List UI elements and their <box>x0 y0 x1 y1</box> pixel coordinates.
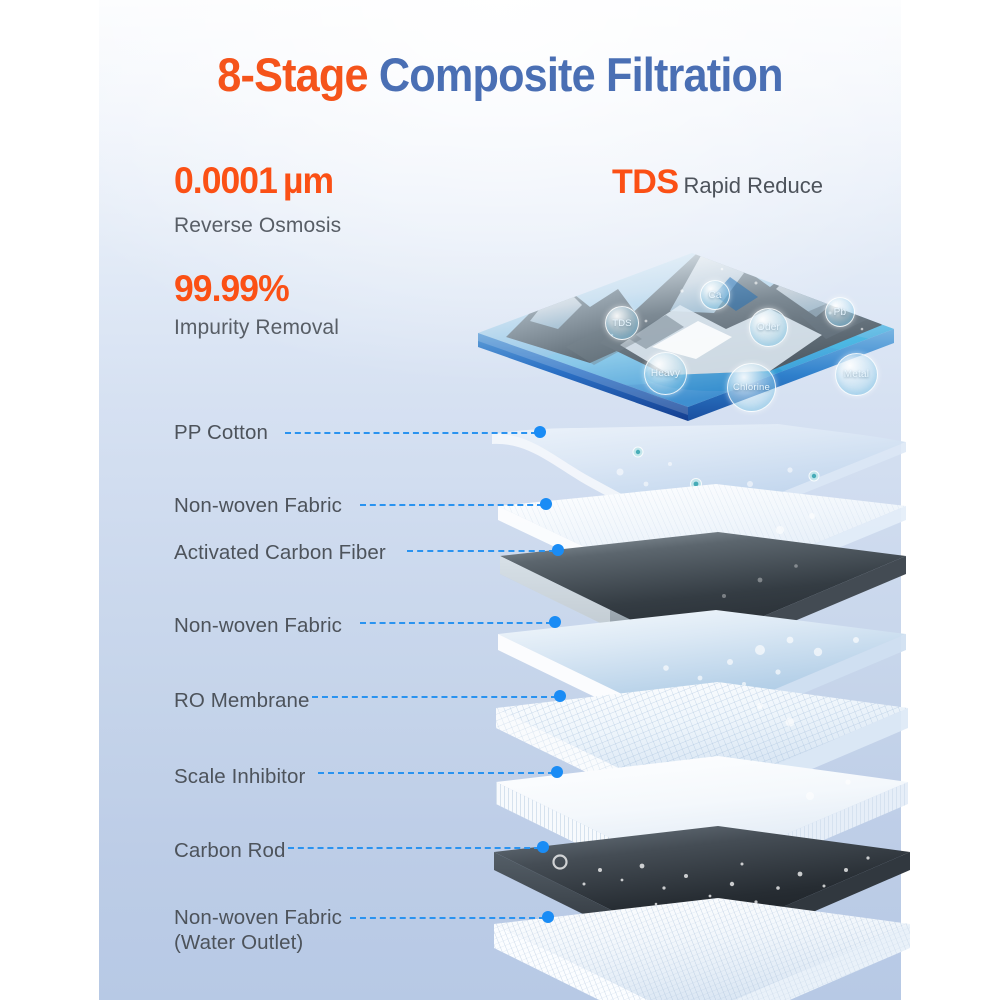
layer-label-text: PP Cotton <box>174 421 268 444</box>
layer-label-scale-inhibitor: Scale Inhibitor <box>174 764 305 789</box>
leader-line <box>312 696 557 698</box>
leader-line <box>285 432 537 434</box>
layer-label-activated-carbon-fiber: Activated Carbon Fiber <box>174 540 386 565</box>
leader-dot <box>542 911 554 923</box>
layer-label-text: Non-woven Fabric <box>174 494 342 517</box>
leader-dot <box>554 690 566 702</box>
infographic-root: 8-Stage Composite Filtration 0.0001 µm R… <box>0 0 1000 1000</box>
layer-label-text: Non-woven Fabric <box>174 614 342 637</box>
layer-label-text: Carbon Rod <box>174 839 286 862</box>
filter-layer-stack <box>0 0 1000 1000</box>
leader-dot <box>534 426 546 438</box>
layer-label-ro-membrane: RO Membrane <box>174 688 310 713</box>
leader-line <box>407 550 555 552</box>
leader-dot <box>552 544 564 556</box>
layer-label-text: RO Membrane <box>174 689 310 712</box>
leader-dot <box>551 766 563 778</box>
leader-dot <box>540 498 552 510</box>
leader-line <box>360 504 543 506</box>
leader-line <box>288 847 540 849</box>
layer-non-woven-fabric-outlet <box>460 888 920 1000</box>
layer-label-text: Activated Carbon Fiber <box>174 541 386 564</box>
layer-label-carbon-rod: Carbon Rod <box>174 838 286 863</box>
layer-label-pp-cotton: PP Cotton <box>174 420 268 445</box>
layer-label-non-woven-fabric-outlet: Non-woven Fabric (Water Outlet) <box>174 905 342 955</box>
layer-label-non-woven-fabric-1: Non-woven Fabric <box>174 493 342 518</box>
leader-line <box>318 772 554 774</box>
layer-label-text: Non-woven Fabric <box>174 906 342 929</box>
leader-dot <box>549 616 561 628</box>
leader-line <box>360 622 552 624</box>
layer-label-non-woven-fabric-2: Non-woven Fabric <box>174 613 342 638</box>
layer-label-text: Scale Inhibitor <box>174 765 305 788</box>
leader-dot <box>537 841 549 853</box>
layer-label-sub: (Water Outlet) <box>174 931 303 954</box>
leader-line <box>350 917 545 919</box>
